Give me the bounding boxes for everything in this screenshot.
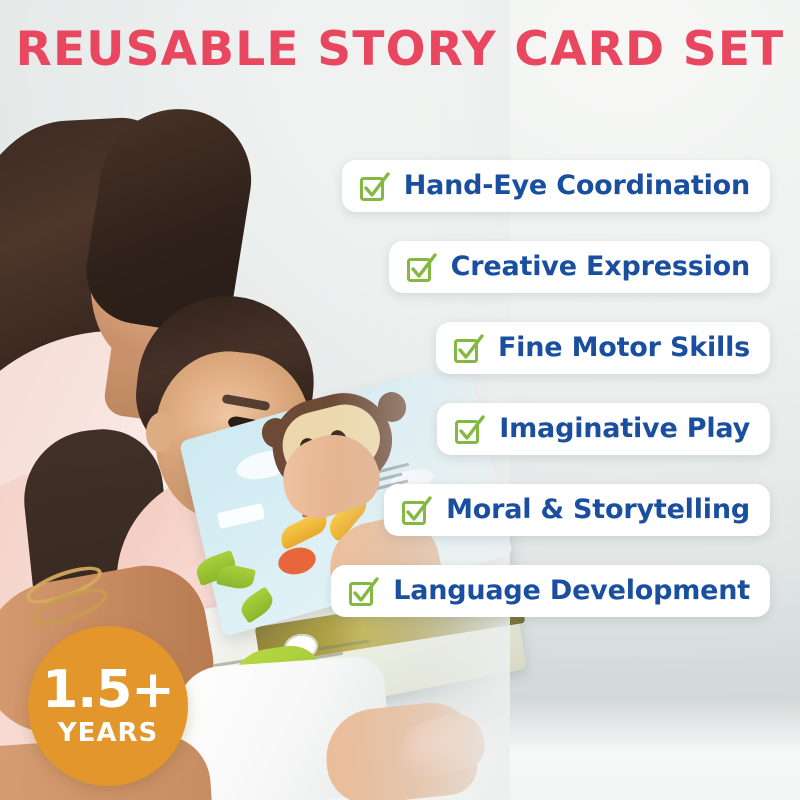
benefit-label: Imaginative Play	[499, 412, 750, 446]
checkbox-checked-icon	[400, 494, 432, 526]
product-infographic-poster: REUSABLE STORY CARD SET Hand-Eye Coordin…	[0, 0, 800, 800]
checkbox-checked-icon	[405, 251, 437, 283]
benefit-label: Language Development	[393, 574, 750, 608]
benefit-item-fine-motor-skills[interactable]: Fine Motor Skills	[436, 322, 770, 374]
benefit-label: Moral & Storytelling	[446, 493, 750, 527]
benefit-item-hand-eye-coordination[interactable]: Hand-Eye Coordination	[342, 160, 770, 212]
benefit-label: Hand-Eye Coordination	[404, 169, 750, 203]
checkbox-checked-icon	[453, 413, 485, 445]
benefit-item-creative-expression[interactable]: Creative Expression	[389, 241, 770, 293]
benefit-label: Fine Motor Skills	[498, 331, 750, 365]
checkbox-checked-icon	[347, 575, 379, 607]
benefits-list: Hand-Eye Coordination Creative Expressio…	[30, 160, 770, 617]
age-badge: 1.5+ YEARS	[28, 626, 188, 786]
benefit-item-moral-storytelling[interactable]: Moral & Storytelling	[384, 484, 770, 536]
benefit-item-language-development[interactable]: Language Development	[331, 565, 770, 617]
age-badge-unit: YEARS	[58, 718, 158, 748]
page-title: REUSABLE STORY CARD SET	[0, 22, 800, 78]
checkbox-checked-icon	[452, 332, 484, 364]
checkbox-checked-icon	[358, 170, 390, 202]
benefit-label: Creative Expression	[451, 250, 750, 284]
benefit-item-imaginative-play[interactable]: Imaginative Play	[437, 403, 770, 455]
age-badge-value: 1.5+	[42, 664, 174, 716]
